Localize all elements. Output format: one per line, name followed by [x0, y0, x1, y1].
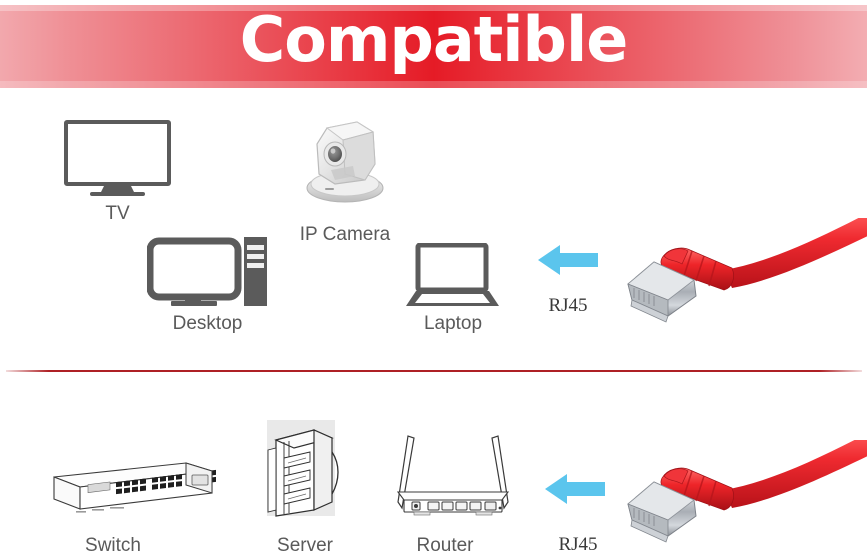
ip-camera-icon [295, 114, 395, 206]
rj45-label-top: RJ45 [528, 295, 608, 317]
switch-label: Switch [58, 535, 168, 557]
arrow-left-icon [538, 243, 600, 277]
arrow-left-icon-bottom [545, 472, 607, 506]
router-icon [388, 430, 518, 522]
server-rack-icon [262, 418, 344, 520]
laptop-icon [405, 243, 500, 308]
desktop-label: Desktop [145, 313, 270, 335]
desktop-icon [147, 237, 269, 309]
router-label: Router [398, 535, 492, 557]
tv-label: TV [60, 203, 175, 225]
compatibility-infographic: Compatible TV [0, 0, 867, 558]
ip-camera-label: IP Camera [285, 224, 405, 246]
server-label: Server [258, 535, 352, 557]
tv-icon [60, 118, 175, 198]
page-title: Compatible [0, 0, 867, 83]
rj45-cable-bottom [620, 440, 867, 550]
section-divider [6, 370, 862, 372]
rj45-label-bottom: RJ45 [538, 534, 618, 556]
rj45-cable-top [620, 218, 867, 328]
laptop-label: Laptop [398, 313, 508, 335]
network-switch-icon [36, 455, 216, 517]
